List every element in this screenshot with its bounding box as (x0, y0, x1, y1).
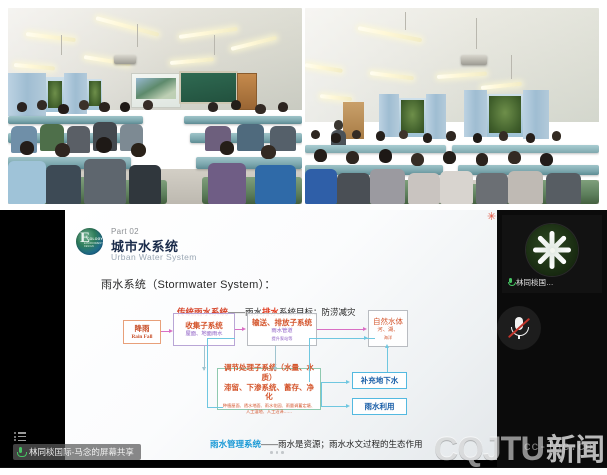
box-sub2: 种植屋面、透水地面、雨水花园、雨量调蓄定塘、人工湿地、人工沼泽…… (221, 403, 317, 415)
student-head (379, 149, 393, 163)
chalkboard (179, 71, 239, 104)
student-head (96, 137, 112, 153)
presentation-slide[interactable]: E COLOGY ENVIRONMENT DESIGN Part 02 城市水系… (65, 210, 497, 460)
ecology-logo: E COLOGY ENVIRONMENT DESIGN (76, 228, 103, 255)
connector (321, 382, 322, 407)
desk-row (184, 116, 302, 124)
connector (321, 406, 347, 407)
slide-part-number: Part 02 (111, 227, 139, 236)
student-body (67, 126, 91, 153)
connector-arrow (363, 327, 367, 331)
box-sub2: 提升泵站等 (272, 336, 293, 341)
slide-page-dots (270, 451, 284, 454)
student-head (79, 100, 89, 110)
flow-box-groundwater[interactable]: 补充地下水 (352, 372, 407, 389)
flow-box-rainfall[interactable]: 降雨 Rain Fall (123, 320, 161, 344)
student-body (84, 159, 125, 204)
mute-toggle-button[interactable] (497, 306, 541, 350)
student-head (55, 143, 70, 157)
box-title: 降雨 (135, 324, 150, 333)
student-body (305, 169, 337, 204)
student-head (261, 145, 276, 159)
student-head (446, 131, 455, 141)
photo-lecture-hall-front (8, 8, 302, 204)
connector-arrow (385, 344, 389, 348)
participant-tile[interactable]: 林同棪国… (502, 215, 602, 293)
student-head (376, 131, 385, 141)
student-head (20, 141, 35, 155)
student-head (540, 153, 553, 166)
window-curtain (523, 90, 549, 139)
connector-arrow (273, 367, 277, 371)
box-title: 雨水利用 (365, 402, 395, 411)
light-wire (137, 24, 138, 48)
box-sub: 雨水管道 (271, 328, 292, 335)
student-head (255, 104, 266, 114)
connector (317, 329, 364, 330)
connector (207, 338, 208, 408)
microphone-icon (508, 278, 514, 287)
student-head (499, 131, 508, 141)
student-head (37, 100, 47, 110)
student-head (526, 133, 535, 143)
student-body (208, 163, 246, 204)
connector (309, 338, 310, 382)
student-head (473, 133, 482, 143)
light-wire (476, 18, 477, 49)
watermark-sub: cc-lac.co (524, 440, 593, 454)
box-title: 补充地下水 (361, 376, 399, 385)
screenshot-root: E COLOGY ENVIRONMENT DESIGN Part 02 城市水系… (0, 0, 607, 475)
student-body (8, 161, 46, 204)
flow-box-natural-water[interactable]: 自然水体 河、湖、 海洋 (368, 310, 408, 347)
box-title: 输送、排放子系统 (252, 318, 312, 327)
photo-lecture-hall-side (305, 8, 599, 204)
connector-arrow (364, 336, 368, 340)
student-head (208, 102, 219, 112)
connector (387, 347, 388, 372)
shared-screen-canvas[interactable]: E COLOGY ENVIRONMENT DESIGN Part 02 城市水系… (0, 210, 607, 468)
student-head (58, 104, 69, 114)
footer-lead: 雨水管理系统 (210, 439, 261, 449)
student-head (231, 100, 241, 110)
student-head (17, 102, 28, 112)
student-body (337, 173, 369, 204)
connector (321, 382, 347, 383)
connector (207, 338, 235, 339)
student-head (120, 102, 130, 112)
light-wire (511, 55, 512, 79)
screen-share-label: 林同棪国际-马念的屏幕共享 (29, 446, 134, 458)
student-body (237, 124, 263, 151)
flow-box-conveyance[interactable]: 输送、排放子系统 雨水管道 提升泵站等 (247, 313, 317, 346)
participant-name: 林同棪国… (516, 277, 554, 288)
box-sub: 河、湖、 (377, 327, 398, 334)
box-title: 自然水体 (373, 317, 403, 326)
tree (489, 96, 521, 133)
desk-row (452, 145, 599, 153)
flow-box-collection[interactable]: 收集子系统 屋面、地面雨水 (173, 313, 235, 346)
student-head (311, 130, 320, 140)
more-options-icon[interactable] (14, 432, 26, 441)
screen-share-banner: 林同棪国际-马念的屏幕共享 (13, 444, 141, 460)
light-wire (214, 35, 215, 55)
slide-footer: 雨水管理系统——雨水是资源；雨水水文过程的生态作用 (210, 438, 423, 450)
flow-box-reuse[interactable]: 雨水利用 (352, 398, 407, 415)
student-head (220, 141, 235, 155)
projector-icon (114, 55, 136, 64)
student-head (411, 153, 424, 166)
student-head (131, 143, 146, 157)
student-head (423, 133, 432, 143)
projector-icon (461, 55, 487, 65)
box-title: 调节处理子系统（水量、水质） (221, 363, 317, 382)
connector-arrow (169, 329, 173, 333)
connector-arrow (242, 327, 246, 331)
tree (401, 100, 425, 133)
logo-subword: ENVIRONMENT DESIGN (84, 242, 103, 248)
student-body (546, 173, 581, 204)
student-body (370, 169, 405, 204)
student-head (99, 102, 110, 112)
zoom-meeting-area: E COLOGY ENVIRONMENT DESIGN Part 02 城市水系… (0, 210, 607, 468)
connector-arrow (202, 367, 206, 371)
tree (89, 81, 102, 106)
microphone-icon (17, 447, 25, 458)
slide-section-heading: 雨水系统（Stormwater System）： (101, 276, 276, 292)
light-wire (405, 12, 406, 30)
box-sub: Rain Fall (131, 334, 152, 341)
connector (207, 407, 223, 408)
student-head (331, 133, 340, 143)
desk-row (8, 116, 143, 124)
projection-screen (131, 73, 180, 108)
student-body (129, 165, 161, 204)
student-body (476, 173, 508, 204)
slide-title-en: Urban Water System (111, 252, 197, 262)
student-head (508, 151, 521, 164)
connector-arrow (346, 380, 350, 384)
flow-box-treatment[interactable]: 调节处理子系统（水量、水质） 滞留、下渗系统、蓄存、净化 种植屋面、透水地面、雨… (217, 368, 321, 410)
student-head (346, 151, 359, 164)
flower-avatar-icon (526, 224, 578, 276)
student-head (399, 130, 408, 140)
student-head (314, 149, 327, 162)
student-head (143, 100, 153, 110)
student-body (46, 165, 81, 204)
logo-word: COLOGY (87, 237, 103, 241)
teacher-head (334, 120, 343, 130)
box-title: 收集子系统 (185, 321, 223, 330)
student-head (552, 131, 561, 141)
box-sub: 屋面、地面雨水 (185, 331, 222, 338)
student-body (508, 171, 543, 204)
student-head (443, 151, 456, 164)
photo-strip (0, 0, 607, 210)
student-body (255, 165, 296, 204)
box-sub2: 海洋 (384, 335, 392, 340)
light-wire (61, 35, 62, 55)
student-body (408, 173, 440, 204)
student-head (278, 102, 288, 112)
student-body (440, 171, 472, 204)
student-head (476, 153, 489, 166)
window-curtain (464, 90, 488, 137)
connector-arrow (346, 404, 350, 408)
recording-dot-icon: ✳ (487, 213, 496, 222)
footer-tail: ——雨水是资源；雨水水文过程的生态作用 (261, 439, 423, 449)
bottom-divider (0, 467, 607, 475)
participant-label-row: 林同棪国… (508, 277, 554, 288)
box-sub: 滞留、下渗系统、蓄存、净化 (221, 383, 317, 402)
